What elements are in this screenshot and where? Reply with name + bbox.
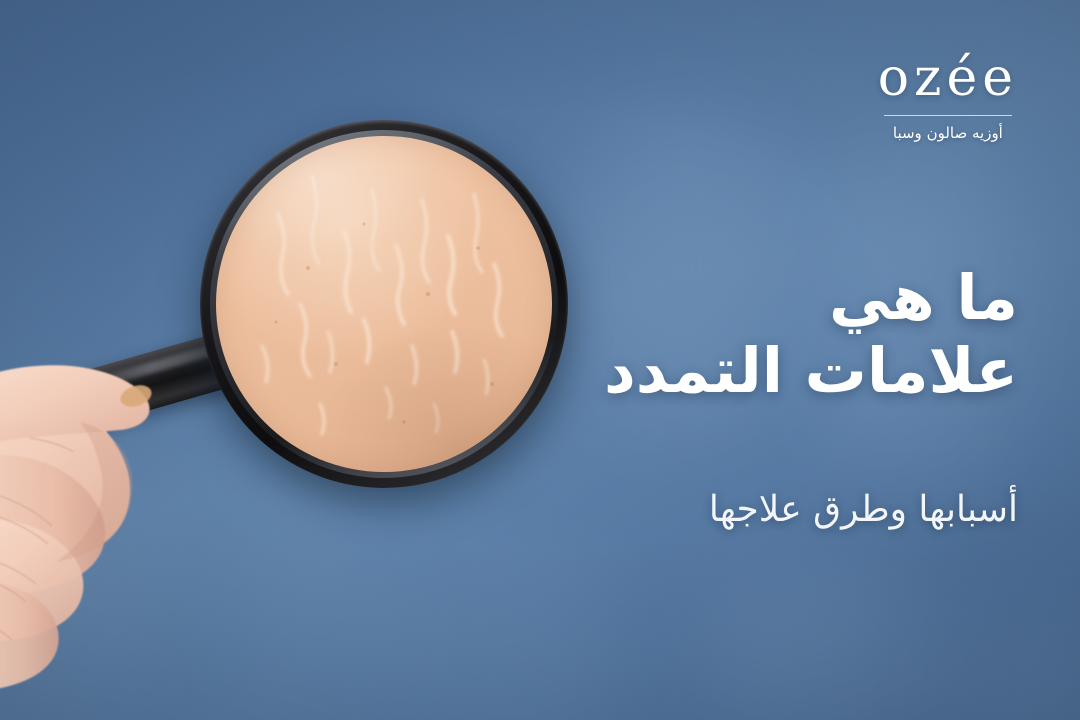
- brand-logo: ozée أوزيه صالون وسبا: [878, 52, 1018, 142]
- page-title: ما هي علامات التمدد: [604, 262, 1018, 407]
- poster-canvas: ozée أوزيه صالون وسبا ما هي علامات التمد…: [0, 0, 1080, 720]
- hand-holding-icon: [0, 318, 260, 720]
- magnifier-lens: [216, 136, 552, 472]
- page-subtitle: أسبابها وطرق علاجها: [709, 487, 1018, 532]
- logo-subtitle: أوزيه صالون وسبا: [878, 124, 1018, 142]
- logo-wordmark: ozée: [878, 52, 1018, 104]
- logo-divider: [884, 115, 1012, 116]
- headline-line-2: علامات التمدد: [604, 335, 1018, 408]
- headline-line-1: ما هي: [604, 262, 1018, 335]
